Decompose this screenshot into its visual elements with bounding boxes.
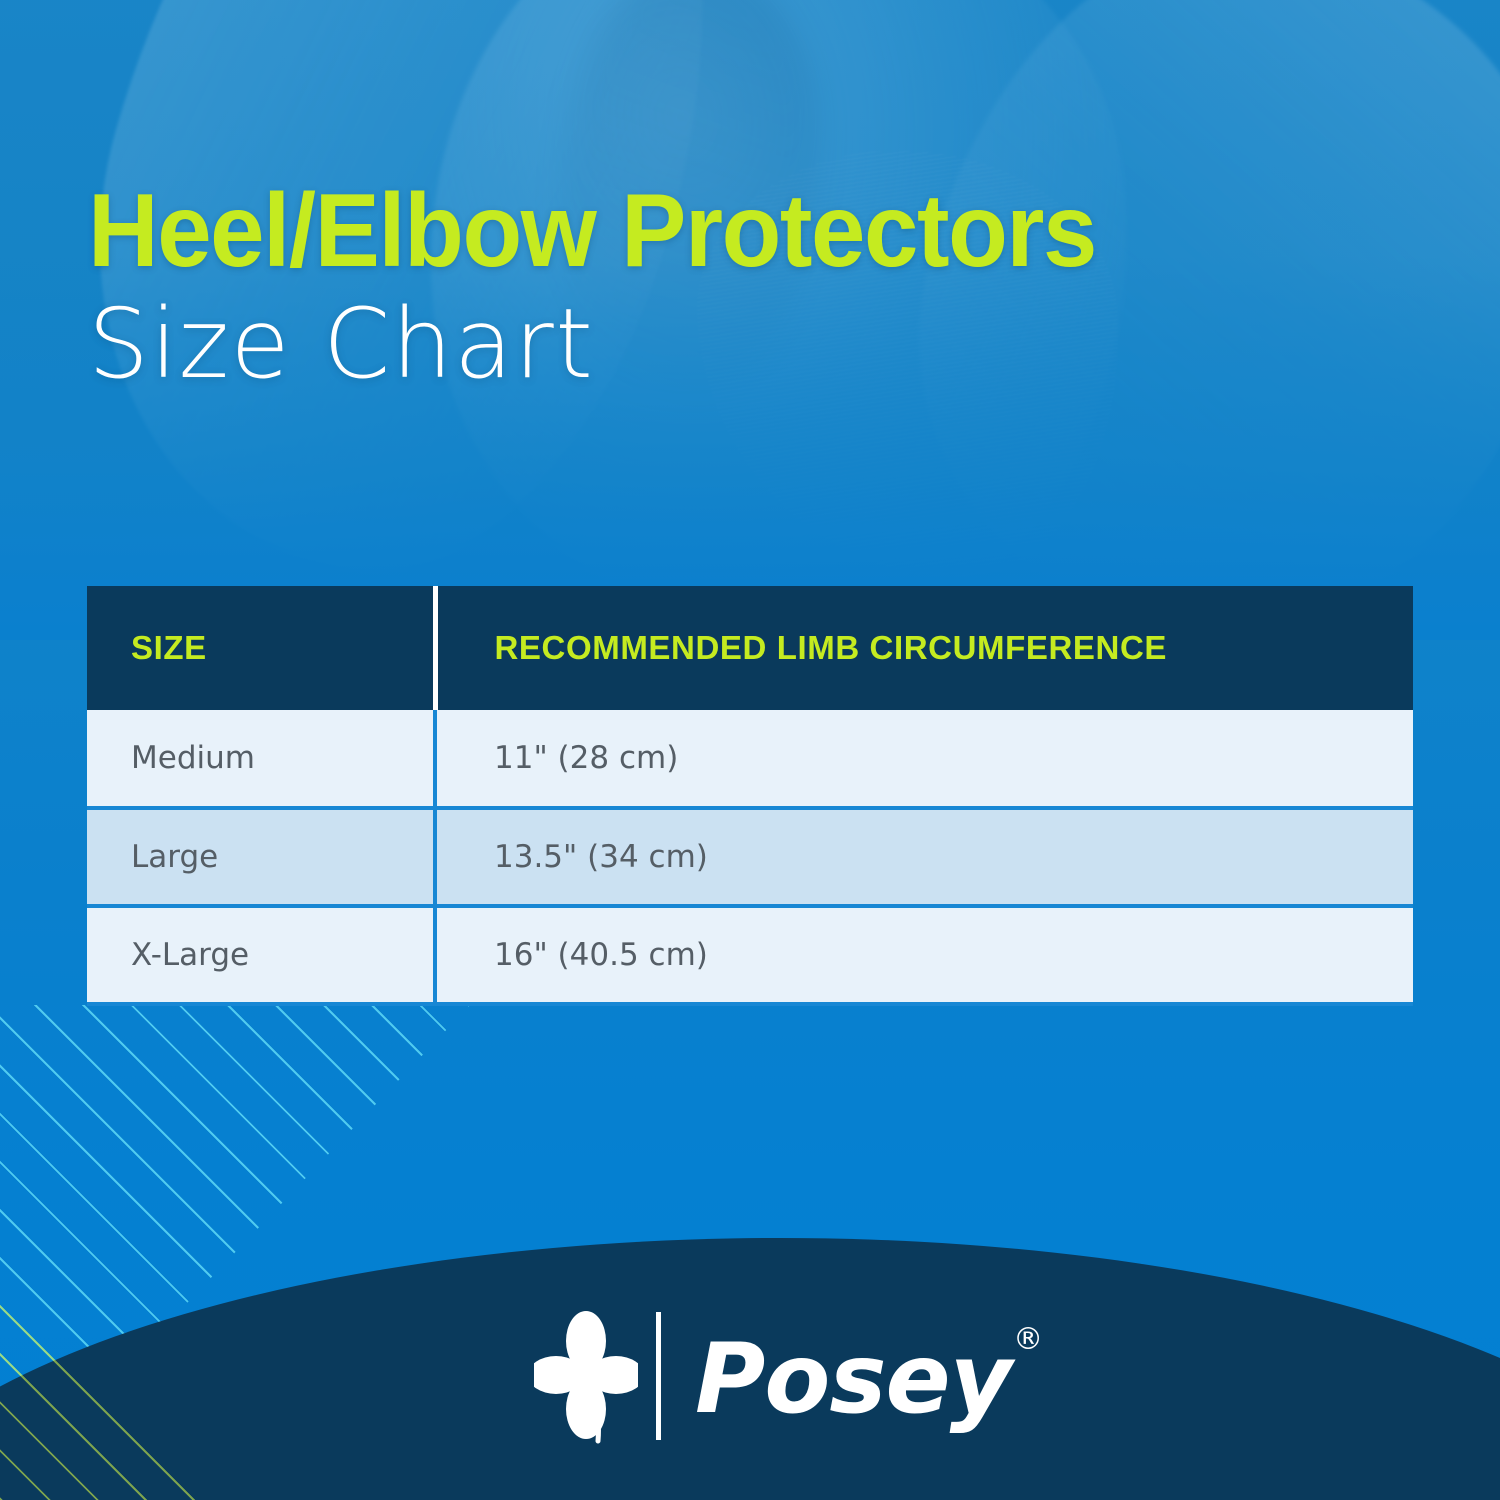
registered-trademark-icon: ® [1013,1322,1042,1357]
posey-flower-icon [534,1305,638,1447]
column-header-size: SIZE [87,586,435,710]
size-chart-poster: Heel/Elbow Protectors Size Chart SIZE RE… [0,0,1500,1500]
cell-circumference-medium: 11" (28 cm) [435,710,1413,808]
table-row: Medium 11" (28 cm) [87,710,1413,808]
heading-block: Heel/Elbow Protectors Size Chart [88,178,1448,401]
column-header-circumference: RECOMMENDED LIMB CIRCUMFERENCE [435,586,1413,710]
page-title: Heel/Elbow Protectors [88,178,1366,284]
cell-size-medium: Medium [87,710,435,808]
table-row: Large 13.5" (34 cm) [87,808,1413,906]
cell-size-xlarge: X-Large [87,906,435,1004]
brand-wordmark: Posey® [695,1331,1040,1427]
table-header-row: SIZE RECOMMENDED LIMB CIRCUMFERENCE [87,586,1413,710]
cell-circumference-large: 13.5" (34 cm) [435,808,1413,906]
brand-name: Posey [695,1323,1011,1435]
size-table: SIZE RECOMMENDED LIMB CIRCUMFERENCE Medi… [87,586,1413,1006]
logo-divider [656,1312,661,1440]
page-subtitle: Size Chart [88,288,1448,401]
cell-circumference-xlarge: 16" (40.5 cm) [435,906,1413,1004]
brand-logo: Posey® [534,1305,1040,1447]
table-row: X-Large 16" (40.5 cm) [87,906,1413,1004]
cell-size-large: Large [87,808,435,906]
size-table-body: Medium 11" (28 cm) Large 13.5" (34 cm) X… [87,710,1413,1004]
size-table-head: SIZE RECOMMENDED LIMB CIRCUMFERENCE [87,586,1413,710]
